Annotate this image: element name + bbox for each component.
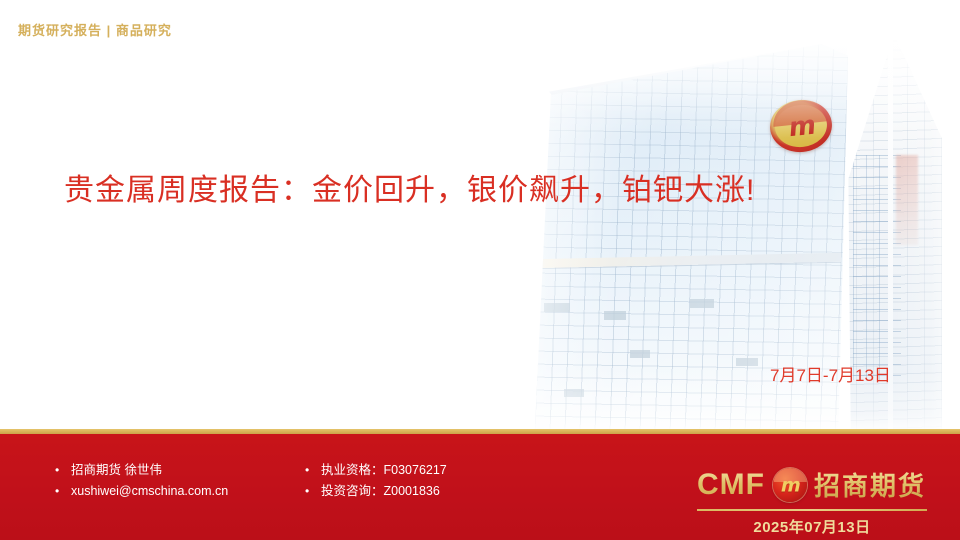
logo-underline: [697, 509, 927, 511]
list-item: • 招商期货 徐世伟: [55, 460, 228, 481]
contact-column-secondary: • 执业资格：F03076217 • 投资咨询：Z0001836: [305, 460, 447, 502]
report-date-range: 7月7日-7月13日: [770, 361, 891, 386]
list-item: • 执业资格：F03076217: [305, 460, 447, 481]
company-logo-lockup: CMF m 招商期货 2025年07月13日: [697, 462, 927, 532]
cmf-wordmark: CMF: [697, 468, 765, 502]
bullet-icon: •: [55, 460, 71, 481]
bullet-icon: •: [305, 481, 321, 502]
list-item: • xushiwei@cmschina.com.cn: [55, 481, 228, 502]
practice-license-number: 执业资格：F03076217: [321, 460, 447, 481]
emblem-mark: m: [779, 476, 801, 495]
secondary-tower-glass-face: [853, 155, 901, 380]
report-cover-slide: 期货研究报告 | 商品研究 m 贵金属周度报告: [0, 0, 960, 540]
analyst-email[interactable]: xushiwei@cmschina.com.cn: [71, 481, 228, 502]
logo-row: CMF m 招商期货: [697, 462, 927, 507]
secondary-tower-reflection: [896, 155, 918, 245]
consulting-license-number: 投资咨询：Z0001836: [321, 481, 440, 502]
building-badge-mark: m: [788, 113, 814, 142]
contact-column-primary: • 招商期货 徐世伟 • xushiwei@cmschina.com.cn: [55, 460, 228, 502]
company-emblem-icon: m: [773, 468, 807, 502]
analyst-name: 招商期货 徐世伟: [71, 460, 162, 481]
page-title: 贵金属周度报告：金价回升，银价飙升，铂钯大涨!: [64, 165, 844, 209]
bullet-icon: •: [55, 481, 71, 502]
report-category-kicker: 期货研究报告 | 商品研究: [18, 20, 172, 39]
list-item: • 投资咨询：Z0001836: [305, 481, 447, 502]
bullet-icon: •: [305, 460, 321, 481]
company-name: 招商期货: [814, 466, 926, 503]
publication-date: 2025年07月13日: [697, 516, 927, 537]
